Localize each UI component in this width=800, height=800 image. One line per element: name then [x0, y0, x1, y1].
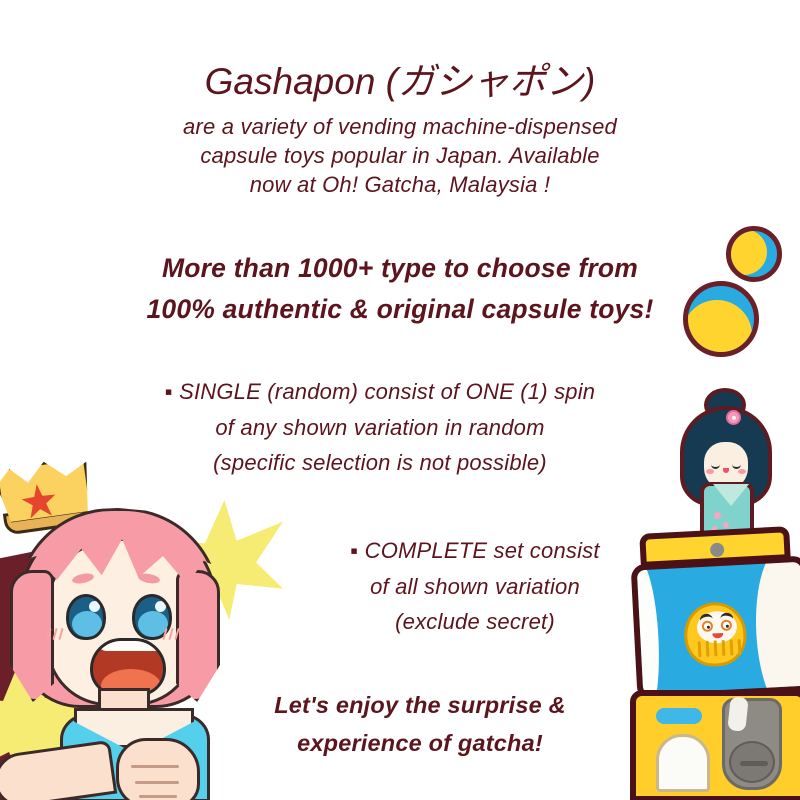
girl-eye-glint-right — [155, 601, 166, 612]
hero-claim: More than 1000+ type to choose from 100%… — [30, 248, 770, 330]
hero-line-2: 100% authentic & original capsule toys! — [30, 289, 770, 330]
girl-finger-line — [135, 781, 179, 784]
page-title: Gashapon (ガシャポン) — [0, 58, 800, 107]
capsule-half-yellow — [726, 229, 767, 275]
machine-dispense-door[interactable] — [656, 734, 710, 792]
girl-eye-glint-left — [89, 601, 100, 612]
girl-iris-left — [72, 611, 102, 637]
capsule-ball-large-icon — [683, 281, 759, 357]
girl-finger-line — [131, 765, 179, 768]
excited-girl-character — [0, 452, 286, 800]
machine-body — [630, 690, 800, 800]
doll-kimono-collar — [713, 484, 749, 506]
bullet-marker: ▪ — [165, 379, 173, 404]
bullet-single-text-1: SINGLE (random) consist of ONE (1) spin — [179, 379, 595, 404]
capsule-ball-small-icon — [726, 226, 782, 282]
doll-eye-left — [711, 462, 720, 469]
girl-finger-line — [139, 795, 177, 798]
girl-blush-right — [164, 628, 186, 640]
girl-hand — [116, 738, 200, 800]
bullet-complete-text-1: COMPLETE set consist — [365, 538, 600, 563]
bullet-single-line-2: of any shown variation in random — [70, 410, 690, 446]
doll-eye-right — [732, 462, 741, 469]
doll-kimono-petal — [723, 522, 729, 528]
girl-blush-left — [48, 628, 70, 640]
daruma-capsule-toy-icon — [683, 601, 748, 668]
intro-line-1: are a variety of vending machine-dispens… — [90, 112, 710, 141]
doll-mouth — [723, 468, 729, 473]
machine-globe-dome — [631, 555, 800, 700]
hero-line-1: More than 1000+ type to choose from — [30, 248, 770, 289]
daruma-eye-left — [702, 620, 714, 632]
doll-cheek-left — [706, 469, 714, 474]
capsule-half-yellow — [683, 300, 752, 357]
doll-kimono-petal — [714, 512, 721, 519]
bullet-single-line-1: ▪ SINGLE (random) consist of ONE (1) spi… — [70, 374, 690, 410]
machine-top-knob — [710, 543, 725, 558]
daruma-body-stripes — [696, 639, 743, 659]
dome-highlight-right — [752, 555, 800, 700]
intro-line-3: now at Oh! Gatcha, Malaysia ! — [90, 170, 710, 199]
kokeshi-doll-icon — [668, 388, 788, 540]
doll-cheek-right — [738, 469, 746, 474]
gachapon-machine-icon — [624, 530, 800, 800]
girl-eye-left — [66, 594, 106, 640]
poster-canvas: Gashapon (ガシャポン) are a variety of vendin… — [0, 0, 800, 800]
dome-highlight-left — [631, 557, 663, 700]
daruma-mouth — [712, 633, 723, 639]
machine-crank-housing[interactable] — [722, 698, 782, 790]
machine-coin-slot[interactable] — [656, 708, 702, 724]
intro-paragraph: are a variety of vending machine-dispens… — [90, 112, 710, 199]
doll-flower-ornament — [726, 410, 741, 425]
intro-line-2: capsule toys popular in Japan. Available — [90, 141, 710, 170]
crank-highlight — [727, 696, 748, 732]
daruma-eye-right — [721, 619, 733, 631]
bullet-marker: ▪ — [350, 538, 358, 563]
machine-crank-dial[interactable] — [729, 741, 775, 783]
